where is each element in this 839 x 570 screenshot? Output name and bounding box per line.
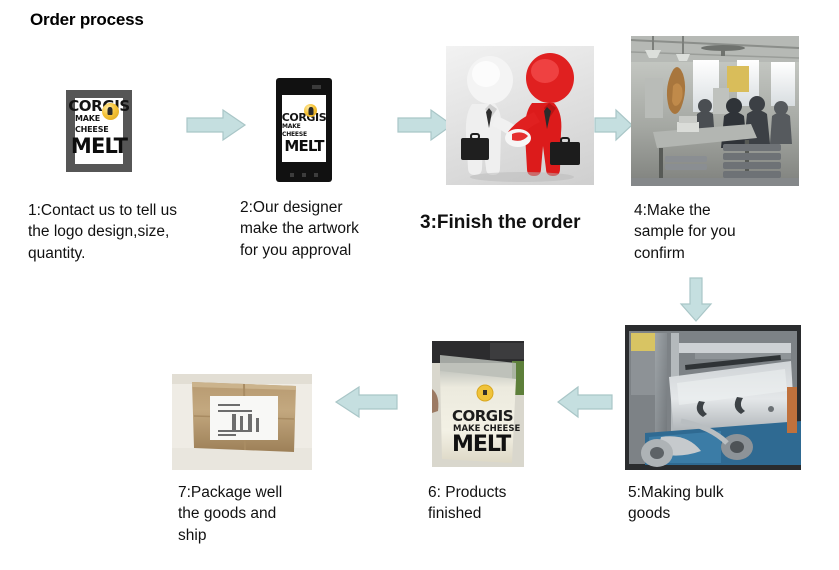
factory-workshop-photo [631, 36, 799, 186]
logo-line3: MELT [284, 139, 323, 154]
logo-line1: CORGIS [68, 99, 130, 114]
step-7-caption: 7:Package well the goods and ship [178, 482, 348, 546]
arrow-5-to-6 [556, 385, 614, 419]
phone-device: CORGIS MAKE CHEESE MELT [276, 78, 332, 182]
step-6-image: CORGIS MAKE CHEESE MELT [432, 341, 524, 467]
production-machine-photo [625, 325, 801, 470]
page-title: Order process [30, 10, 144, 30]
step-3-caption: 3:Finish the order [420, 210, 580, 236]
step-2-image: CORGIS MAKE CHEESE MELT [276, 78, 332, 182]
step-5-image [625, 325, 801, 470]
arrow-4-to-5 [679, 277, 713, 323]
step-1-image: CORGIS MAKE CHEESE MELT [66, 90, 132, 172]
svg-text:MELT: MELT [452, 432, 511, 457]
step-2-caption: 2:Our designer make the artwork for you … [240, 197, 400, 261]
packaged-carton-photo [172, 374, 312, 470]
finished-product-photo: CORGIS MAKE CHEESE MELT [432, 341, 524, 467]
arrow-6-to-7 [333, 385, 399, 419]
logo-badge-icon [102, 103, 119, 120]
step-1-caption: 1:Contact us to tell us the logo design,… [28, 200, 228, 264]
phone-screen: CORGIS MAKE CHEESE MELT [282, 95, 326, 162]
phone-speaker-icon [312, 85, 321, 89]
step-4-caption: 4:Make the sample for you confirm [634, 200, 784, 264]
handshake-illustration [446, 46, 594, 185]
step-7-image [172, 374, 312, 470]
phone-home-buttons [276, 173, 332, 177]
logo-line3: MELT [71, 136, 127, 157]
arrow-1-to-2 [185, 108, 247, 142]
arrow-3-to-4 [594, 108, 634, 142]
step-3-image [446, 46, 594, 185]
logo-card: CORGIS MAKE CHEESE MELT [75, 98, 123, 164]
step-4-image [631, 36, 799, 186]
logo-mount: CORGIS MAKE CHEESE MELT [66, 90, 132, 172]
svg-text:CORGIS: CORGIS [452, 407, 513, 425]
step-6-caption: 6: Products finished [428, 482, 578, 525]
step-5-caption: 5:Making bulk goods [628, 482, 778, 525]
